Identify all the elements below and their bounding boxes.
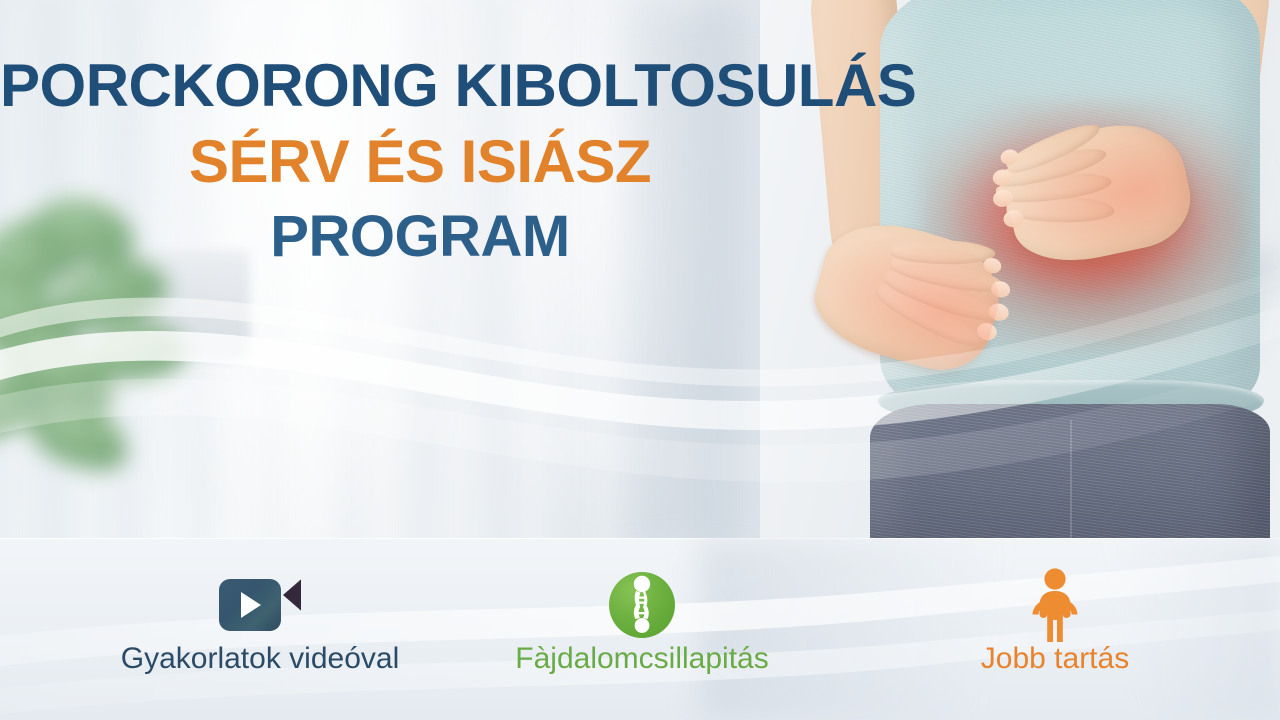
- feature-row: Gyakorlatok videóval: [0, 566, 1280, 720]
- camera-lens: [283, 579, 301, 610]
- feature-exercises-with-video[interactable]: Gyakorlatok videóval: [90, 566, 430, 674]
- person-glyph: [1026, 568, 1084, 642]
- feature-icon-wrap: [885, 566, 1225, 644]
- headline-line-3: PROGRAM: [0, 208, 840, 266]
- headline-line-2: SÉRV ÉS ISIÁSZ: [0, 132, 840, 192]
- spine-icon: [609, 572, 675, 638]
- feature-label-posture: Jobb tartás: [885, 644, 1225, 674]
- video-camera-icon: [219, 579, 301, 631]
- headline-line-1: PORCKORONG KIBOLTOSULÁS: [0, 56, 840, 116]
- play-triangle-icon: [241, 592, 261, 618]
- leggings-seam: [1070, 420, 1072, 540]
- feature-label-pain-relief: Fàjdalomcsillapitás: [472, 644, 812, 674]
- gray-leggings: [870, 404, 1270, 540]
- feature-label-exercises: Gyakorlatok videóval: [90, 644, 430, 674]
- feature-icon-wrap: [472, 566, 812, 644]
- promo-banner: PORCKORONG KIBOLTOSULÁS SÉRV ÉS ISIÁSZ P…: [0, 0, 1280, 720]
- headline-block: PORCKORONG KIBOLTOSULÁS SÉRV ÉS ISIÁSZ P…: [0, 56, 840, 266]
- standing-person-icon: [1026, 568, 1084, 642]
- feature-icon-wrap: [90, 566, 430, 644]
- spine-glyph: [609, 572, 675, 638]
- feature-pain-relief[interactable]: Fàjdalomcsillapitás: [472, 566, 812, 674]
- feature-better-posture[interactable]: Jobb tartás: [885, 566, 1225, 674]
